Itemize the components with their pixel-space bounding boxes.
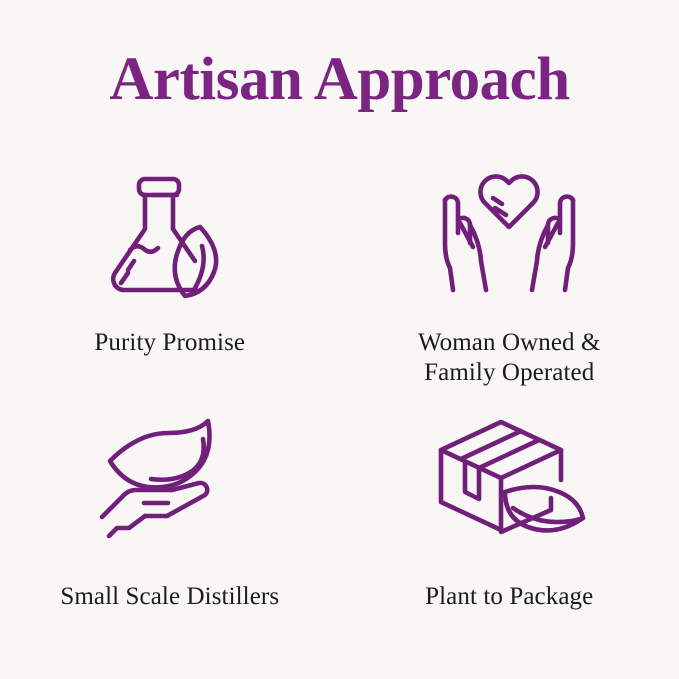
feature-grid: Purity Promise [0,152,679,652]
feature-label: Plant to Package [425,582,593,612]
page-title: Artisan Approach [0,44,679,116]
flask-leaf-icon [95,166,245,298]
feature-item-plant-to-package: Plant to Package [340,402,679,652]
feature-label: Woman Owned & Family Operated [418,328,601,388]
hand-leaf-icon [95,412,245,544]
box-leaf-icon [434,412,584,544]
feature-item-woman-owned: Woman Owned & Family Operated [340,152,679,402]
feature-label: Purity Promise [94,328,245,358]
feature-item-purity-promise: Purity Promise [0,152,340,402]
feature-label: Small Scale Distillers [60,582,279,612]
feature-item-small-scale-distillers: Small Scale Distillers [0,402,340,652]
hands-heart-icon [434,168,584,300]
artisan-approach-panel: Artisan Approach [0,0,679,679]
